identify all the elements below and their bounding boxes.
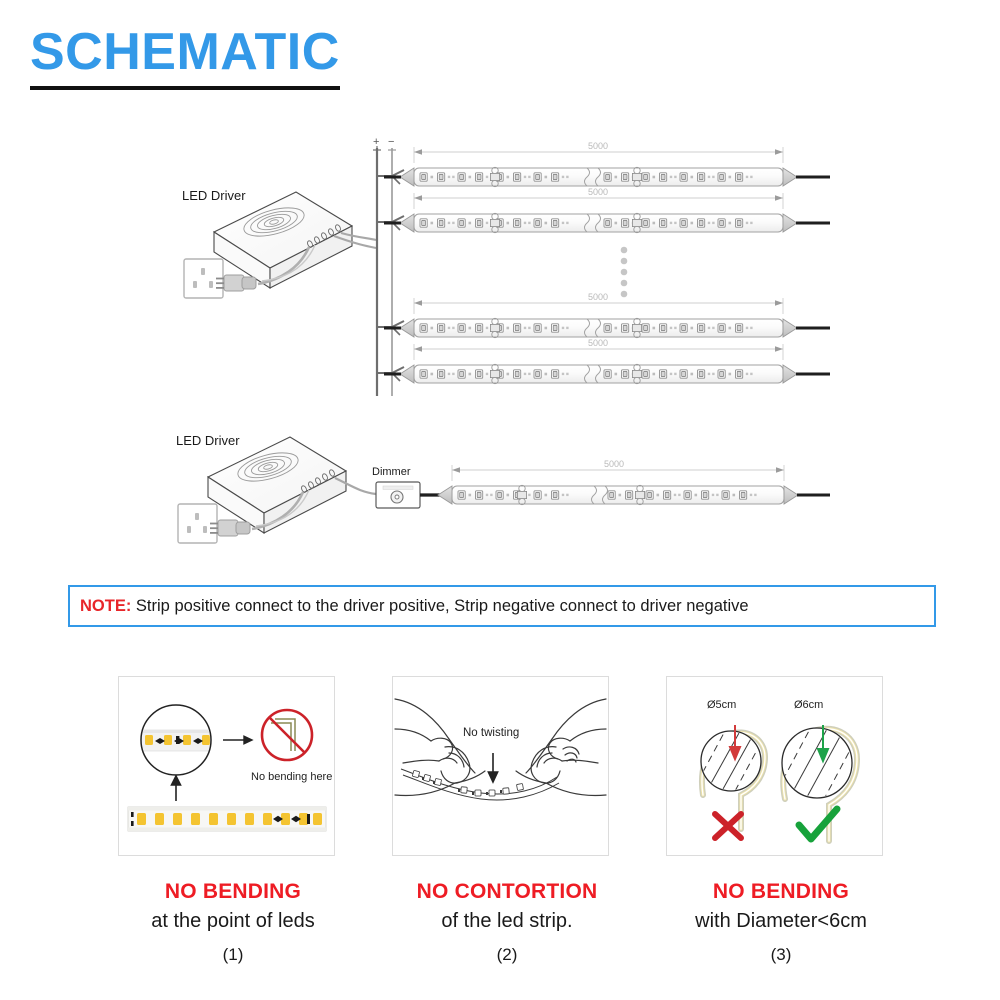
dimension-label-4: 5000 [588,338,608,348]
note-text: NOTE: Strip positive connect to the driv… [70,597,749,616]
panel-2-drawing [393,677,608,855]
page-title: SCHEMATIC [30,26,340,78]
note-label: NOTE: [80,597,131,615]
dimmer-label: Dimmer [372,466,411,478]
led-driver-label-top: LED Driver [182,188,246,203]
led-strip-row-2 [384,193,830,233]
panel-2-inline-text: No twisting [463,727,519,739]
wall-socket-top [184,259,223,298]
caption-num-2: (2) [377,945,637,965]
panel-3-label-bad: Ø5cm [707,699,736,711]
cross-mark-icon [715,814,741,838]
panel-no-bending-leds: No bending here [118,676,335,856]
led-strip-row-3 [384,298,830,338]
bus-branches [377,170,404,381]
dimension-label-3: 5000 [588,292,608,302]
caption-num-3: (3) [651,945,911,965]
panel-no-bending-diameter: Ø5cm Ø6cm [666,676,883,856]
caption-sub-2: of the led strip. [377,910,637,933]
led-strip-row-4 [384,344,830,384]
note-body: Strip positive connect to the driver pos… [131,597,748,615]
polarity-negative-label: − [388,136,394,148]
caption-sub-3: with Diameter<6cm [651,910,911,933]
polarity-positive-label: + [373,136,379,148]
caption-num-1: (1) [103,945,363,965]
panel-1-drawing [119,677,334,855]
led-strip-row-1 [384,147,830,187]
caption-title-2: NO CONTORTION [377,880,637,904]
led-driver-top [214,192,376,288]
schematic-page: SCHEMATIC [0,0,1000,1000]
panel-no-contortion: No twisting [392,676,609,856]
panel-3-drawing [667,677,882,855]
title-underline [30,86,340,90]
dimension-label-5: 5000 [604,459,624,469]
caption-title-3: NO BENDING [651,880,911,904]
power-plug-top [216,275,256,291]
note-box: NOTE: Strip positive connect to the driv… [68,585,936,627]
led-strip-row-5 [438,465,830,505]
power-bus [373,146,396,396]
caption-sub-1: at the point of leds [103,910,363,933]
led-driver-bottom [208,437,376,533]
dimension-label-2: 5000 [588,187,608,197]
dimmer-module [376,482,452,508]
led-driver-label-bottom: LED Driver [176,433,240,448]
caption-title-1: NO BENDING [103,880,363,904]
wall-socket-bottom [178,504,217,543]
power-plug-bottom [210,520,250,536]
panel-3-label-good: Ø6cm [794,699,823,711]
dimension-label-1: 5000 [588,141,608,151]
panel-1-inline-text: No bending here [251,771,332,783]
continuation-dots [621,247,628,298]
